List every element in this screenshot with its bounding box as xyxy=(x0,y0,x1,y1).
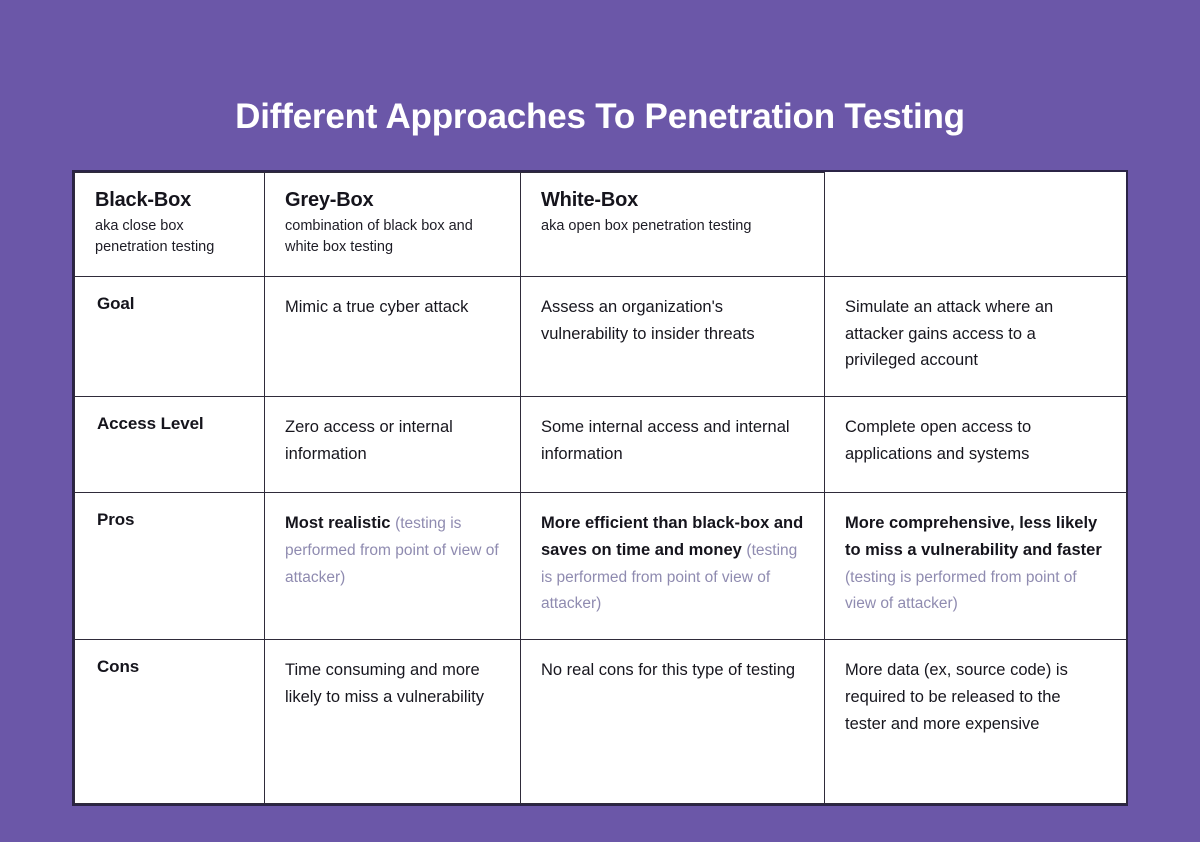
cell-access-level-grey-box: Some internal access and internal inform… xyxy=(521,397,825,493)
cell-text: Mimic a true cyber attack xyxy=(285,298,468,316)
cell-goal-black-box: Mimic a true cyber attack xyxy=(265,277,521,397)
table-header-row: Black-Box aka close box penetration test… xyxy=(75,173,1127,277)
cell-cons-white-box: More data (ex, source code) is required … xyxy=(825,640,1127,804)
cell-text: Assess an organization's vulnerability t… xyxy=(541,298,755,343)
cell-text: Simulate an attack where an attacker gai… xyxy=(845,298,1053,369)
column-header-white-box: White-Box aka open box penetration testi… xyxy=(521,173,825,277)
comparison-table-container: Black-Box aka close box penetration test… xyxy=(72,170,1128,806)
column-header-subtitle: aka close box penetration testing xyxy=(95,216,244,258)
row-label-pros: Pros xyxy=(75,493,265,640)
cell-muted-text: (testing is performed from point of view… xyxy=(845,569,1077,613)
row-label-goal: Goal xyxy=(75,277,265,397)
table-row-access-level: Access Level Zero access or internal inf… xyxy=(75,397,1127,493)
cell-pros-black-box: Most realistic (testing is performed fro… xyxy=(265,493,521,640)
page-title: Different Approaches To Penetration Test… xyxy=(0,95,1200,139)
table-row-pros: Pros Most realistic (testing is performe… xyxy=(75,493,1127,640)
cell-cons-grey-box: No real cons for this type of testing xyxy=(521,640,825,804)
cell-strong-text: Most realistic xyxy=(285,514,390,532)
cell-text: More data (ex, source code) is required … xyxy=(845,661,1068,732)
comparison-table: Black-Box aka close box penetration test… xyxy=(74,172,1127,804)
cell-text: No real cons for this type of testing xyxy=(541,661,795,679)
column-header-subtitle: combination of black box and white box t… xyxy=(285,216,500,258)
cell-text: Some internal access and internal inform… xyxy=(541,418,790,463)
cell-goal-grey-box: Assess an organization's vulnerability t… xyxy=(521,277,825,397)
cell-goal-white-box: Simulate an attack where an attacker gai… xyxy=(825,277,1127,397)
cell-pros-white-box: More comprehensive, less likely to miss … xyxy=(825,493,1127,640)
cell-cons-black-box: Time consuming and more likely to miss a… xyxy=(265,640,521,804)
cell-access-level-black-box: Zero access or internal information xyxy=(265,397,521,493)
column-header-black-box: Black-Box aka close box penetration test… xyxy=(75,173,265,277)
cell-strong-text: More comprehensive, less likely to miss … xyxy=(845,514,1102,559)
cell-text: Complete open access to applications and… xyxy=(845,418,1031,463)
cell-access-level-white-box: Complete open access to applications and… xyxy=(825,397,1127,493)
table-row-goal: Goal Mimic a true cyber attack Assess an… xyxy=(75,277,1127,397)
row-label-cons: Cons xyxy=(75,640,265,804)
row-label-access-level: Access Level xyxy=(75,397,265,493)
cell-text: Zero access or internal information xyxy=(285,418,453,463)
cell-pros-grey-box: More efficient than black-box and saves … xyxy=(521,493,825,640)
column-header-grey-box: Grey-Box combination of black box and wh… xyxy=(265,173,521,277)
cell-text: Time consuming and more likely to miss a… xyxy=(285,661,484,706)
column-header-title: White-Box xyxy=(541,187,804,213)
column-header-subtitle: aka open box penetration testing xyxy=(541,216,804,237)
table-row-cons: Cons Time consuming and more likely to m… xyxy=(75,640,1127,804)
infographic-page: Different Approaches To Penetration Test… xyxy=(0,0,1200,842)
column-header-title: Black-Box xyxy=(95,187,244,213)
column-header-title: Grey-Box xyxy=(285,187,500,213)
